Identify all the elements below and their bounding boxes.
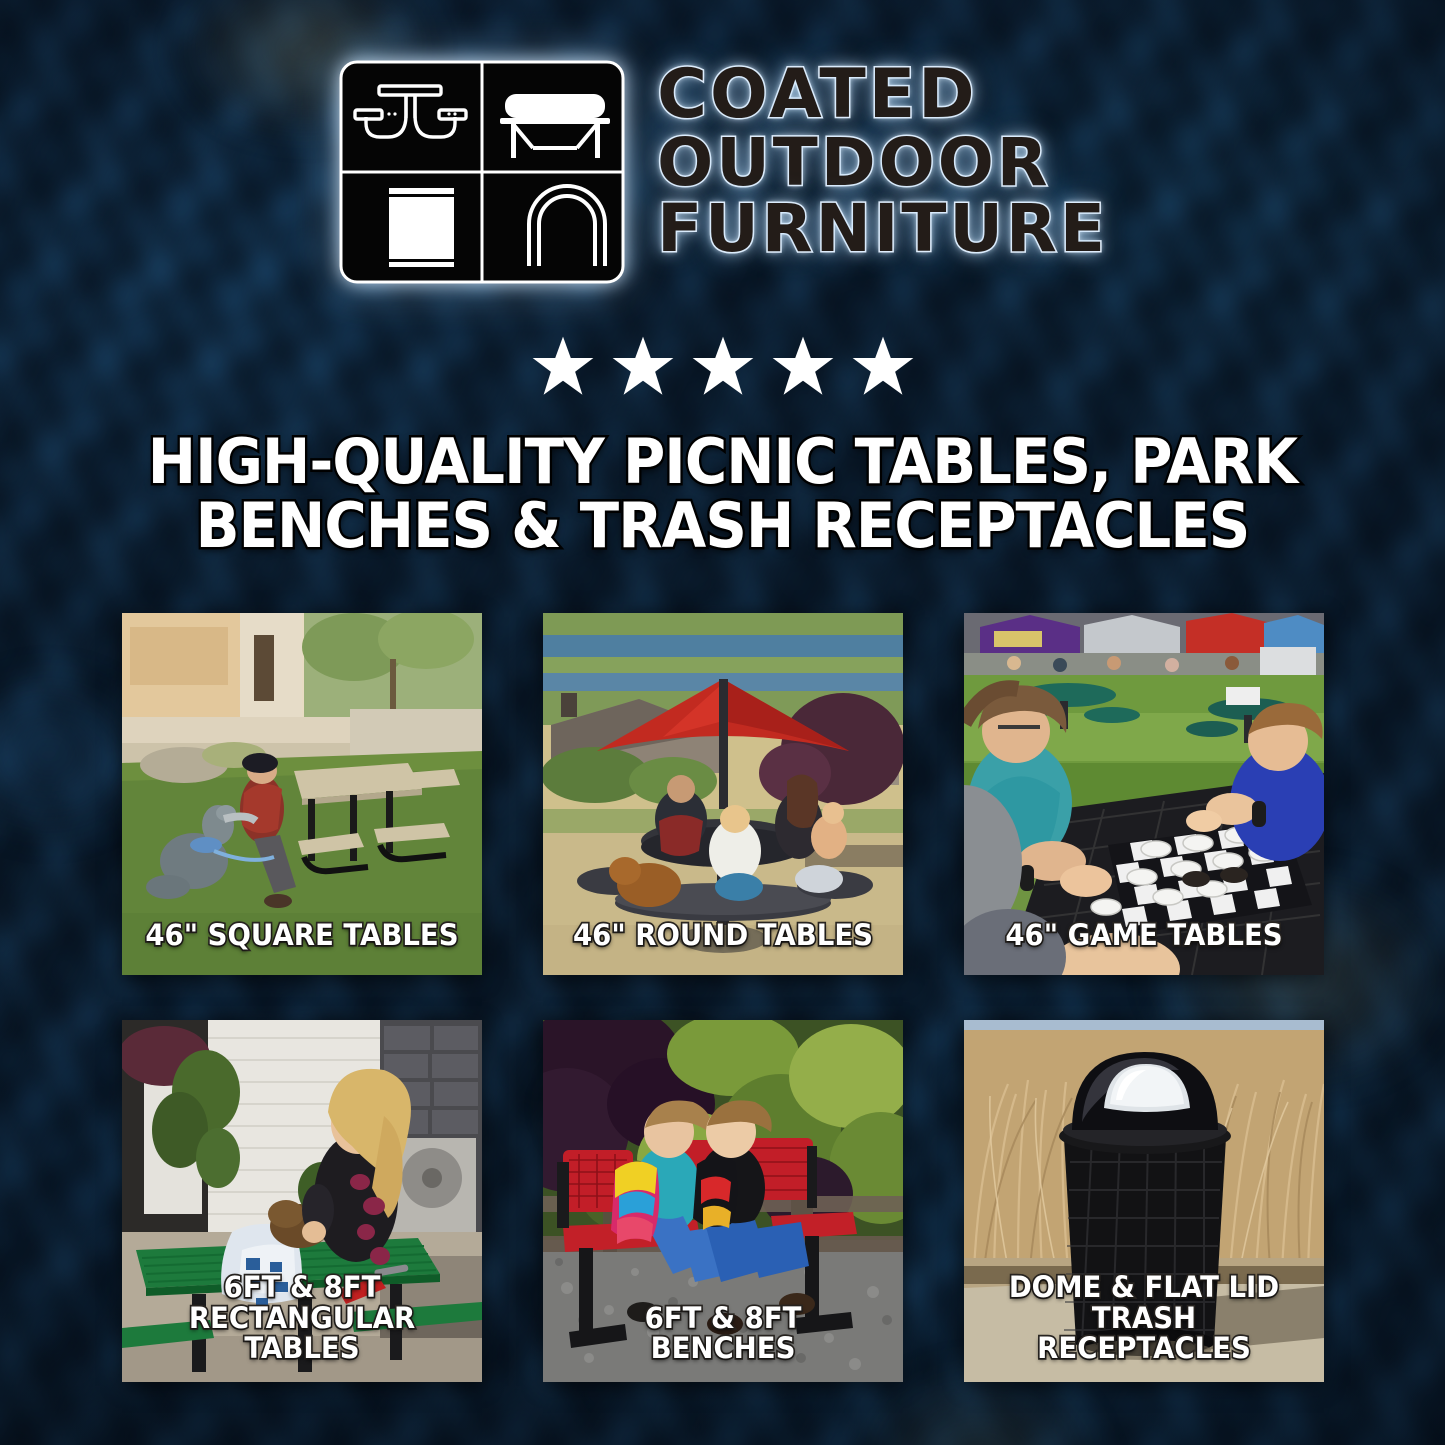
product-caption-line-1: DOME & FLAT LID: [981, 1272, 1308, 1303]
product-caption-line-2: RECTANGULAR TABLES: [139, 1303, 466, 1364]
product-caption: 46" GAME TABLES: [964, 920, 1324, 951]
star-icon: [770, 334, 836, 400]
headline-line-2: BENCHES & TRASH RECEPTACLES: [106, 494, 1338, 558]
brand-name-line-1: COATED: [657, 62, 1108, 129]
headline-line-1: HIGH-QUALITY PICNIC TABLES, PARK: [106, 430, 1338, 494]
product-caption-line-1: 6FT & 8FT: [560, 1303, 887, 1334]
product-tile-rectangular-tables[interactable]: 6FT & 8FT RECTANGULAR TABLES: [122, 1020, 482, 1382]
star-icon: [690, 334, 756, 400]
product-tile-round-tables[interactable]: 46" ROUND TABLES: [543, 613, 903, 975]
page-title: HIGH-QUALITY PICNIC TABLES, PARK BENCHES…: [0, 430, 1445, 559]
brand-wordmark: COATED OUTDOOR FURNITURE: [657, 58, 1108, 262]
brand-name-line-3: FURNITURE: [657, 197, 1108, 262]
product-tile-game-tables[interactable]: 46" GAME TABLES: [964, 613, 1324, 975]
product-caption: 6FT & 8FT BENCHES: [543, 1303, 903, 1364]
product-caption: 46" ROUND TABLES: [543, 920, 903, 951]
product-caption-line-1: 6FT & 8FT: [139, 1272, 466, 1303]
promo-poster: COATED OUTDOOR FURNITURE HIGH-QUALITY PI…: [0, 0, 1445, 1445]
product-caption-line-1: 46" ROUND TABLES: [560, 920, 887, 951]
trash-receptacle-icon: [389, 188, 454, 267]
star-icon: [610, 334, 676, 400]
star-icon: [530, 334, 596, 400]
product-caption: 6FT & 8FT RECTANGULAR TABLES: [122, 1272, 482, 1364]
product-caption-line-2: BENCHES: [560, 1333, 887, 1364]
product-caption: 46" SQUARE TABLES: [122, 920, 482, 951]
product-caption-line-2: TRASH RECEPTACLES: [981, 1303, 1308, 1364]
product-caption: DOME & FLAT LID TRASH RECEPTACLES: [964, 1272, 1324, 1364]
furniture-grid-logo-icon: [337, 58, 627, 286]
brand-name-line-2: OUTDOOR: [657, 131, 1108, 196]
product-tile-trash-receptacles[interactable]: DOME & FLAT LID TRASH RECEPTACLES: [964, 1020, 1324, 1382]
product-caption-line-1: 46" SQUARE TABLES: [139, 920, 466, 951]
star-rating: [0, 334, 1445, 400]
product-grid: 46" SQUARE TABLES: [122, 613, 1324, 1382]
star-icon: [850, 334, 916, 400]
brand-logo: COATED OUTDOOR FURNITURE: [0, 58, 1445, 286]
product-caption-line-1: 46" GAME TABLES: [981, 920, 1308, 951]
product-tile-square-tables[interactable]: 46" SQUARE TABLES: [122, 613, 482, 975]
product-tile-benches[interactable]: 6FT & 8FT BENCHES: [543, 1020, 903, 1382]
